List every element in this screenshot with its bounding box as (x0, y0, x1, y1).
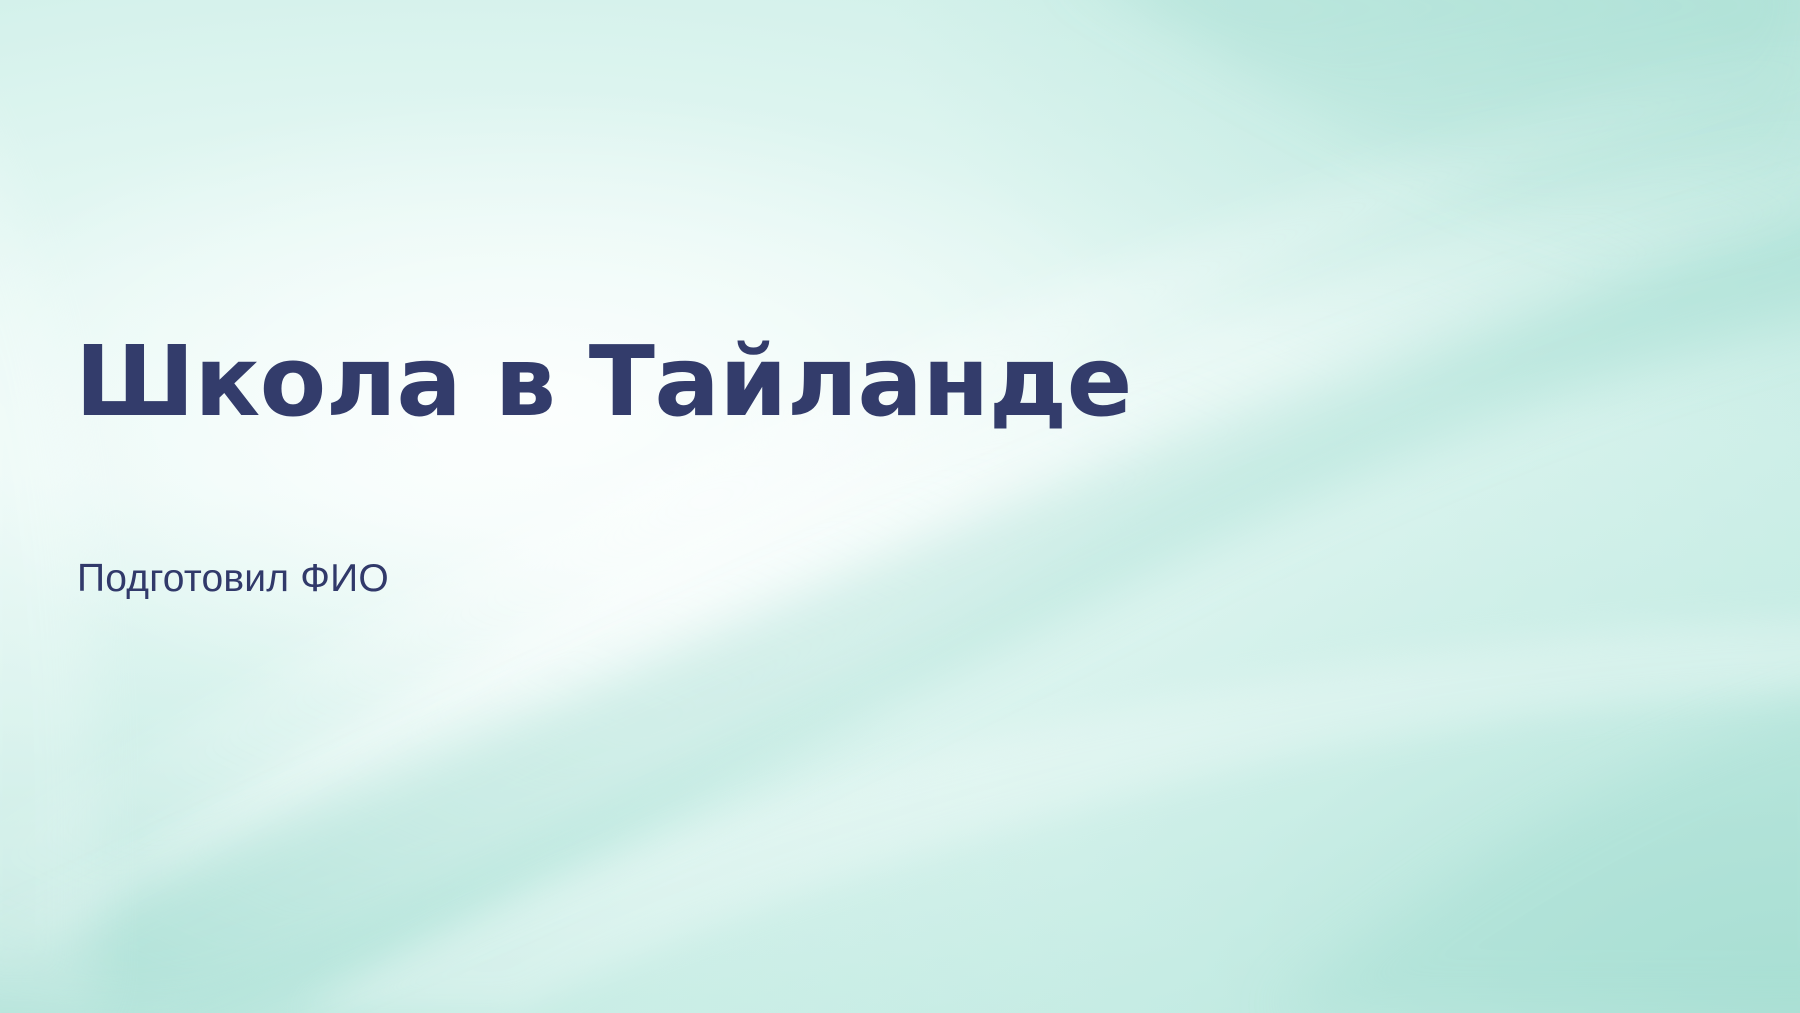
page-title: Школа в Тайланде (75, 330, 1132, 435)
slide-content: Школа в Тайланде Подготовил ФИО (75, 0, 1275, 1013)
slide-subtitle-author: Подготовил ФИО (77, 556, 389, 603)
title-slide: Школа в Тайланде Подготовил ФИО (0, 0, 1800, 1013)
